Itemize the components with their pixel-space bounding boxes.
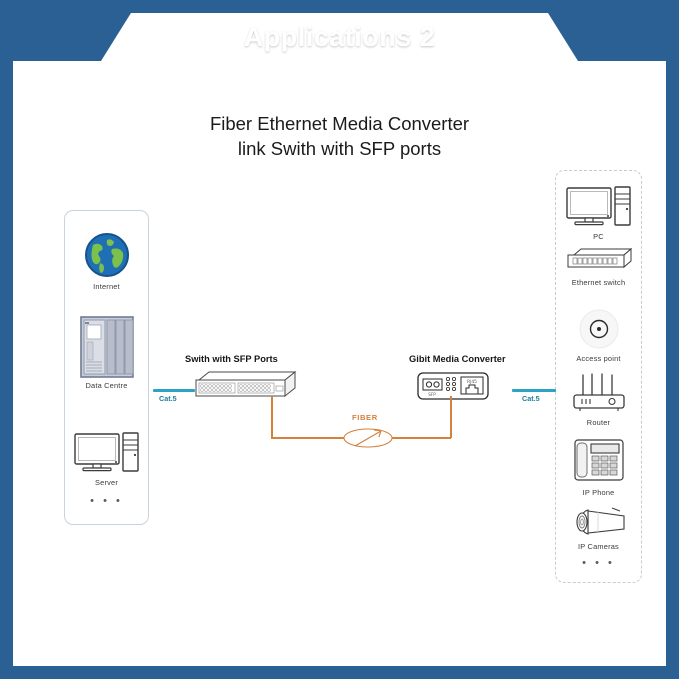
node-label: IP Phone	[556, 488, 641, 497]
fiber-segment-from-switch	[271, 396, 273, 438]
node-label: Internet	[65, 282, 148, 291]
node-server: Server	[65, 431, 148, 487]
node-internet: Internet	[65, 231, 148, 291]
banner-title: Applications 2	[13, 13, 666, 61]
node-data-centre: Data Centre	[65, 316, 148, 390]
right-equipment-panel: PC	[555, 170, 642, 583]
fiber-segment-right	[388, 437, 451, 439]
cat5-link-right	[512, 389, 556, 392]
node-label: Access point	[556, 354, 641, 363]
desktop-computer-icon	[65, 431, 148, 475]
desk-phone-icon	[556, 437, 641, 485]
node-ip-phone: IP Phone	[556, 437, 641, 497]
router-icon	[556, 371, 641, 415]
gigabit-media-converter-icon: SFP RJ45	[417, 370, 489, 407]
node-access-point: Access point	[556, 309, 641, 363]
switch-with-sfp-ports-icon	[193, 370, 301, 407]
fiber-symbol-icon	[343, 424, 393, 457]
diagram-title: Fiber Ethernet Media Converter link Swit…	[13, 111, 666, 161]
node-label: Ethernet switch	[556, 278, 641, 287]
desktop-computer-icon	[556, 185, 641, 229]
fiber-segment-to-converter	[450, 396, 452, 438]
globe-icon	[65, 231, 148, 279]
fiber-segment-left	[271, 437, 348, 439]
node-pc: PC	[556, 185, 641, 241]
poster-page: Applications 2 Fiber Ethernet Media Conv…	[13, 13, 666, 666]
node-label: Server	[65, 478, 148, 487]
media-converter-device-label: Gibit Media Converter	[409, 354, 506, 364]
poster-border: Applications 2 Fiber Ethernet Media Conv…	[0, 0, 679, 679]
svg-text:RJ45: RJ45	[467, 379, 477, 385]
fiber-label: FIBER	[352, 413, 378, 422]
wireless-access-point-icon	[556, 309, 641, 351]
header-banner: Applications 2	[13, 13, 666, 61]
node-router: Router	[556, 371, 641, 427]
right-panel-ellipsis: • • •	[556, 559, 641, 567]
diagram-title-line-2: link Swith with SFP ports	[13, 136, 666, 161]
cat5-link-left	[153, 389, 195, 392]
cat5-right-label: Cat.5	[522, 394, 540, 403]
switch-device-label: Swith with SFP Ports	[185, 354, 278, 364]
node-label: IP Cameras	[556, 542, 641, 551]
svg-text:SFP: SFP	[428, 392, 436, 397]
left-equipment-panel: Internet	[64, 210, 149, 525]
cat5-left-label: Cat.5	[159, 394, 177, 403]
left-panel-ellipsis: • • •	[65, 497, 148, 505]
bullet-camera-icon	[556, 505, 641, 539]
node-label: Data Centre	[65, 381, 148, 390]
server-rack-icon	[65, 316, 148, 378]
node-label: Router	[556, 418, 641, 427]
diagram-title-line-1: Fiber Ethernet Media Converter	[13, 111, 666, 136]
node-label: PC	[556, 232, 641, 241]
node-ethernet-switch: Ethernet switch	[556, 247, 641, 287]
node-ip-cameras: IP Cameras	[556, 505, 641, 551]
network-switch-icon	[556, 247, 641, 275]
